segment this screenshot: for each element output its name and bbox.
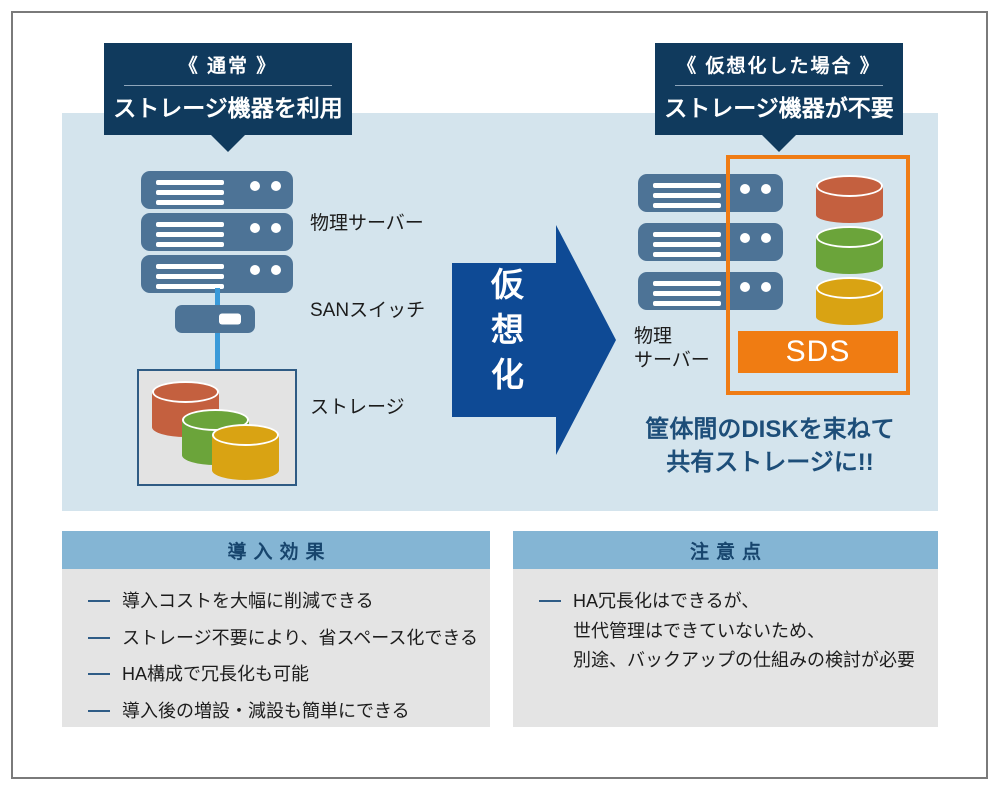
san-wire-lower [215,332,220,370]
sds-badge: SDS [738,331,898,373]
dash-bullet-icon [88,600,110,602]
server-icon [141,171,293,209]
san-switch-icon [175,305,255,333]
callout-virtualized-subtitle: ストレージ機器が不要 [655,86,903,120]
list-item: ストレージ不要により、省スペース化できる [88,624,490,654]
callout-virtualized-caption: 《 仮想化した場合 》 [655,43,903,76]
list-item: HA構成で冗長化も可能 [88,660,490,690]
cautions-panel-title: 注意点 [513,531,938,569]
server-led-icon [250,181,260,191]
virtualization-caption: 筐体間のDISKを束ねて 共有ストレージに!! [620,413,920,479]
dash-bullet-icon [88,710,110,712]
diagram-canvas: 《 通常 》 ストレージ機器を利用 《 仮想化した場合 》 ストレージ機器が不要 [0,0,1000,792]
server-bars-icon [156,264,224,294]
cautions-panel: 注意点 HA冗長化はできるが、 世代管理はできていないため、 別途、バックアップ… [513,531,938,727]
server-led-icon [271,181,281,191]
list-item: HA冗長化はできるが、 世代管理はできていないため、 別途、バックアップの仕組み… [539,587,938,676]
callout-normal: 《 通常 》 ストレージ機器を利用 [104,43,352,135]
list-item-text: ストレージ不要により、省スペース化できる [122,624,478,654]
server-bars-icon [156,222,224,252]
dash-bullet-icon [539,600,561,602]
list-item: 導入コストを大幅に削減できる [88,587,490,617]
server-led-icon [250,223,260,233]
dash-bullet-icon [88,637,110,639]
server-bars-icon [653,232,721,262]
label-physical-server-left: 物理サーバー [310,212,424,236]
list-item: 導入後の増設・減設も簡単にできる [88,697,490,727]
virtualization-arrow: 仮想化 [452,225,616,455]
server-led-icon [271,265,281,275]
benefits-panel-title: 導入効果 [62,531,490,569]
callout-normal-caption: 《 通常 》 [104,43,352,76]
callout-tail-icon [762,135,796,152]
server-led-icon [271,223,281,233]
server-bars-icon [653,281,721,311]
list-item-text: HA冗長化はできるが、 世代管理はできていないため、 別途、バックアップの仕組み… [573,587,915,676]
benefits-panel: 導入効果 導入コストを大幅に削減できる ストレージ不要により、省スペース化できる… [62,531,490,727]
callout-normal-subtitle: ストレージ機器を利用 [104,86,352,120]
server-icon [141,213,293,251]
cautions-list: HA冗長化はできるが、 世代管理はできていないため、 別途、バックアップの仕組み… [513,569,938,676]
list-item-text: 導入後の増設・減設も簡単にできる [122,697,410,727]
disk-yellow-icon [212,424,279,480]
server-bars-icon [653,183,721,213]
list-item-text: HA構成で冗長化も可能 [122,660,309,690]
list-item-text: 導入コストを大幅に削減できる [122,587,374,617]
benefits-list: 導入コストを大幅に削減できる ストレージ不要により、省スペース化できる HA構成… [62,569,490,727]
switch-led-icon [219,314,241,325]
label-physical-server-right: 物理 サーバー [634,325,710,373]
dash-bullet-icon [88,673,110,675]
callout-tail-icon [211,135,245,152]
server-bars-icon [156,180,224,210]
callout-virtualized: 《 仮想化した場合 》 ストレージ機器が不要 [655,43,903,135]
arrow-label: 仮想化 [480,263,536,398]
label-san-switch: SANスイッチ [310,299,425,323]
server-led-icon [250,265,260,275]
label-storage: ストレージ [310,396,405,420]
